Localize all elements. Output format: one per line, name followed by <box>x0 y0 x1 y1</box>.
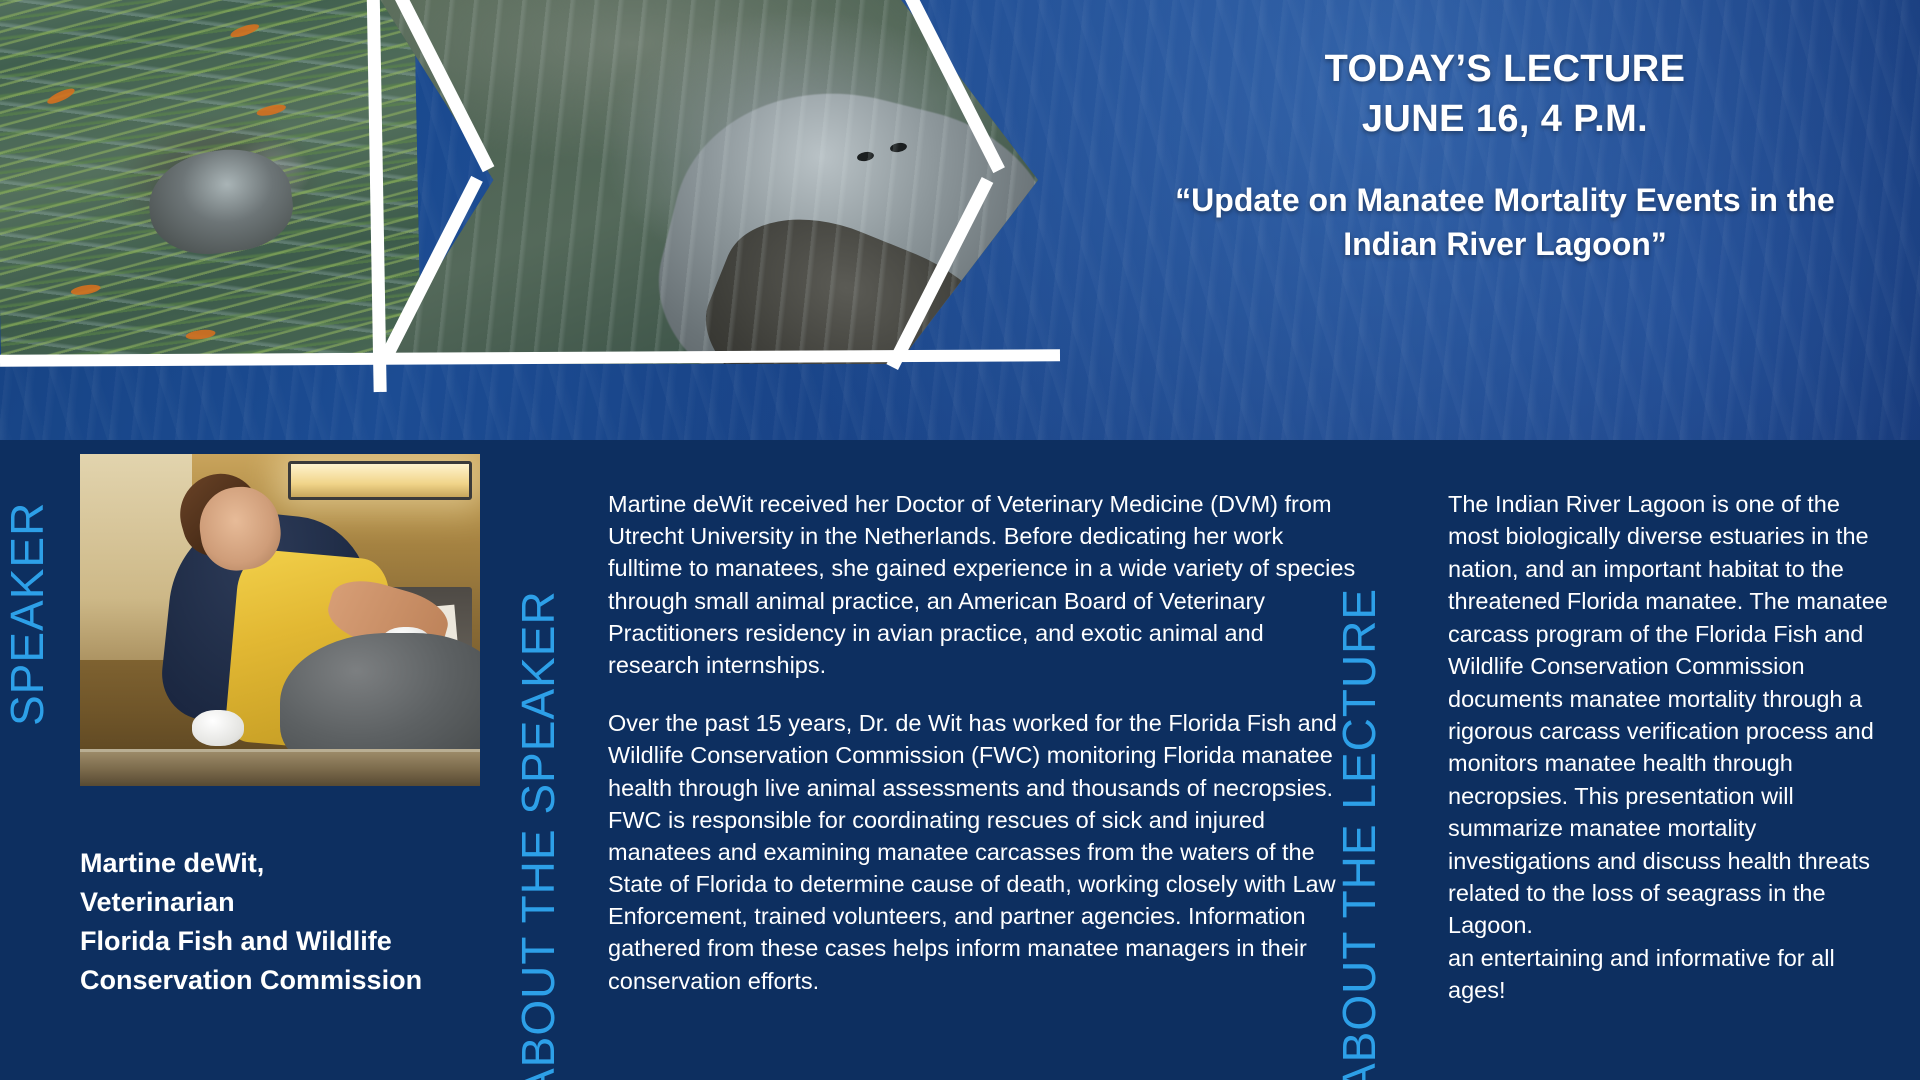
lecture-kicker-line1: TODAY’S LECTURE <box>1105 44 1905 94</box>
speaker-column: Martine deWit, Veterinarian Florida Fish… <box>80 454 500 1000</box>
lecture-poster: TODAY’S LECTURE JUNE 16, 4 P.M. “Update … <box>0 0 1920 1080</box>
about-the-lecture-text: The Indian River Lagoon is one of the mo… <box>1448 488 1888 1007</box>
about-speaker-paragraph-1: Martine deWit received her Doctor of Vet… <box>608 488 1358 681</box>
lecture-title: “Update on Manatee Mortality Events in t… <box>1105 178 1905 266</box>
speaker-photo <box>80 454 480 786</box>
body-area: SPEAKER ABOUT THE SPEAKER ABOUT THE LECT… <box>0 440 1920 1080</box>
ceiling-light-icon <box>288 461 472 501</box>
speaker-name: Martine deWit, <box>80 844 500 883</box>
speaker-credentials: Martine deWit, Veterinarian Florida Fish… <box>80 844 500 1000</box>
about-the-speaker-text: Martine deWit received her Doctor of Vet… <box>608 488 1358 997</box>
about-lecture-paragraph-4: an entertaining and informative for all … <box>1448 945 1835 1003</box>
necropsy-table <box>80 749 480 786</box>
speaker-role: Veterinarian <box>80 883 500 922</box>
header-text-block: TODAY’S LECTURE JUNE 16, 4 P.M. “Update … <box>1105 44 1905 267</box>
glove-icon <box>192 710 244 747</box>
about-lecture-paragraph-2: The manatee carcass program of the Flori… <box>1448 588 1888 809</box>
section-label-about-the-speaker: ABOUT THE SPEAKER <box>511 590 565 1080</box>
header-photo-seagrass <box>0 0 421 360</box>
lecture-kicker: TODAY’S LECTURE JUNE 16, 4 P.M. <box>1105 44 1905 144</box>
speaker-org-line2: Conservation Commission <box>80 961 500 1000</box>
about-speaker-paragraph-2: Over the past 15 years, Dr. de Wit has w… <box>608 707 1358 997</box>
header-banner: TODAY’S LECTURE JUNE 16, 4 P.M. “Update … <box>0 0 1920 440</box>
section-label-speaker: SPEAKER <box>0 502 54 726</box>
speaker-org-line1: Florida Fish and Wildlife <box>80 922 500 961</box>
lecture-kicker-line2: JUNE 16, 4 P.M. <box>1105 94 1905 144</box>
